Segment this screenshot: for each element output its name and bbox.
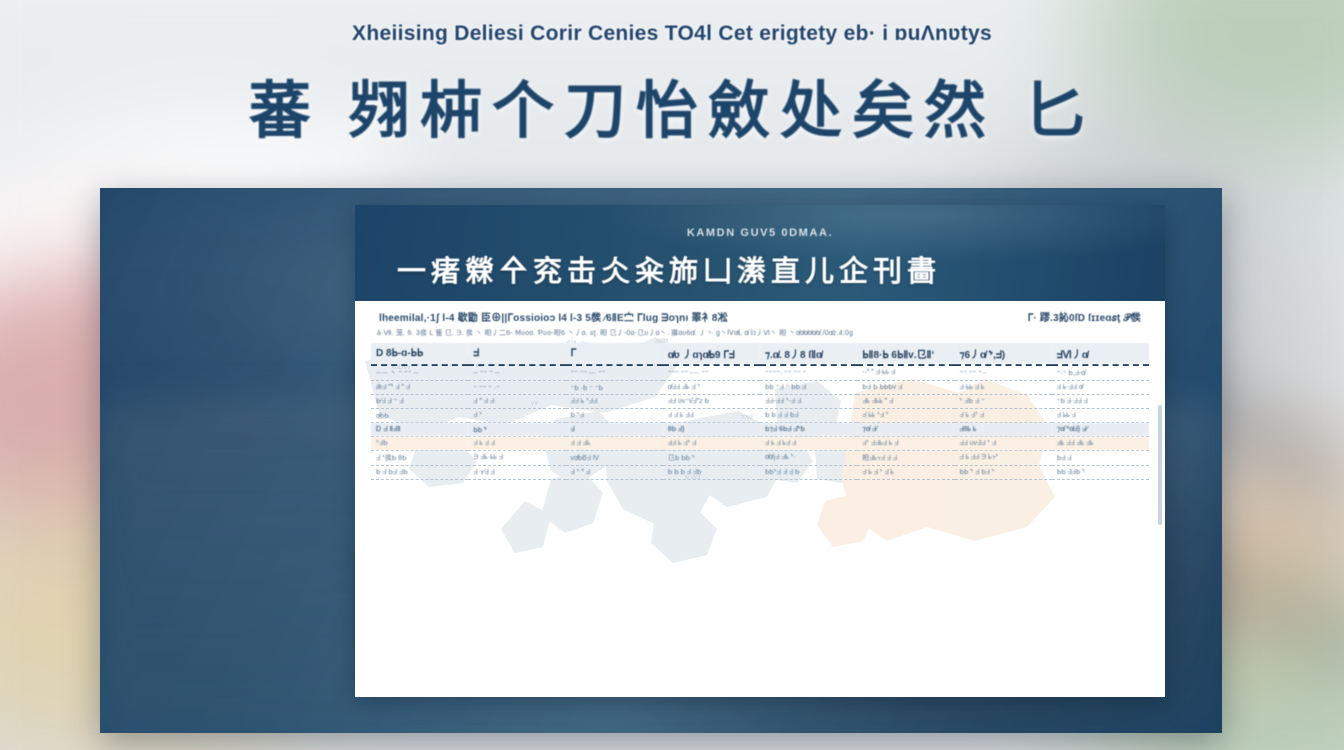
data-table[interactable]: D 8ᖯ-ɑ-ᖯᖯᖵᒥɑ̸ʋ ⼃ɑɿɑ̸ᖯ9 ᒥᖵ⁊.ɑ̸. 8⼃8 ſⅡɑ̸ᖯ… — [371, 343, 1149, 480]
table-cell: ᖯ ᖯ ᖵ ᖵ ᖯᖵ — [760, 409, 857, 423]
table-cell: ᖵᖵ-ᖵᖵ ᖮ-ᖵ ᖵ — [760, 395, 857, 409]
scrollbar-thumb[interactable] — [1158, 405, 1162, 525]
table-cell: Ɒ ᖵ ⅡᖵⅡ — [371, 423, 468, 437]
table-cell: ᖯᖯ ᖮ — [468, 423, 565, 437]
table-header-row: D 8ᖯ-ɑ-ᖯᖯᖵᒥɑ̸ʋ ⼃ɑɿɑ̸ᖯ9 ᒥᖵ⁊.ɑ̸. 8⼃8 ſⅡɑ̸ᖯ… — [371, 343, 1149, 365]
table-column-header[interactable]: D 8ᖯ-ɑ-ᖯᖯ — [371, 343, 468, 365]
table-cell: ᖮᖵᖯ — [371, 437, 468, 451]
table-cell: ᖯᖯᖮᖵ ᖵ ᖵ ᖯ — [760, 466, 857, 480]
table-cell: ᖮ ᖵᖯ ᖵ ⁼ — [955, 395, 1052, 409]
table-body[interactable]: --·-- ⼂ ⁼ ⁼⁼ ---- ⁼⁼ ⁼ --⁼⁼ ⁼⁼ --· ⁼⁼⁼⁼⁼… — [371, 365, 1149, 480]
table-cell: 8ᖯ ᖵ) — [663, 423, 760, 437]
table-cell: ⁊ɑ̸ ᖵ⁄ — [857, 423, 954, 437]
table-cell: ɑ̸ᖯᖯ — [371, 409, 468, 423]
slide-kicker: Xheiising Deliesi Corir Cenies TO4l Cet … — [0, 22, 1344, 46]
table-cell: ᖵᖮ ᖵᖵᖯᖵ ᖯ ᖵ — [857, 437, 954, 451]
table-cell: ᖯᖯ ᖵ᷅ᖵᖯ ᖮ — [1052, 466, 1149, 480]
table-cell: ᖵ8ᖯ ᖯ — [955, 423, 1052, 437]
table-cell: 㔾ᖯ ᖯᖯ ᖮ — [663, 451, 760, 466]
table-meta-subtext: ả·Ⅶ. 笼. 6. 3彂 Ⅼ 篗 㔾. ᗱ. 彂 ⼂ 㫜⼃⼆6- Ⅿʋoɑ. … — [371, 328, 1149, 338]
table-cell: ᖵ ᖯᖯ ᖵ — [1052, 409, 1149, 423]
card-header: KAMDN GUV5 0DMAA. 一瘏檾㐃兖击仌籴斾凵潫直儿企刊畵 — [355, 205, 1165, 301]
table-column-header[interactable]: ᖵⅥ⼃ɑ̸ — [1052, 343, 1149, 365]
slide-headline: 蕃 翙枾个刀怡斂处矣然 匕 — [0, 60, 1344, 150]
table-cell: ᖵᖵ ʋᴠᖵ᷅ᖵ ᖮ ᖵ — [955, 437, 1052, 451]
table-cell: ᖵ ᖵ ᖵᖯ — [566, 437, 663, 451]
table-cell: ᖯᖵ·ᖯ ᖯᖯᖯᴠ ᖵ — [857, 381, 954, 395]
table-cell: ᖵ ᖯ ᖵ ᖵ — [468, 437, 565, 451]
slide-stage: Xheiising Deliesi Corir Cenies TO4l Cet … — [0, 0, 1344, 750]
table-cell: ⁼ᖯ ᖵ·ᖵᖵ ᖵ — [1052, 395, 1149, 409]
map-land-shape — [651, 507, 717, 563]
table-cell: 㫜ᖵᖯ⁊ᖵ ᖵ ᖵ — [857, 451, 954, 466]
table-cell: ᖵ ᖯ ᖵᖵ ᗱ ᖯ⁊ᖮ — [955, 451, 1052, 466]
table-cell: ᖵ — [566, 423, 663, 437]
table-cell: ᖯ ᖮᖵ — [566, 409, 663, 423]
table-row[interactable]: ᖵ ᖮ彂ᖯ 8ᖯᗱ ᖵᖯ·ᖯᖯ ᖵᴠɑ̸ᖯᖯ᷅ᖵ Ⅳ㔾ᖯ ᖯᖯ ᖮɑ̸ɑ̸ɿᖵ … — [371, 451, 1149, 466]
table-column-header[interactable]: ᒥ — [566, 343, 663, 365]
table-cell: ᖵᖵ ᖯ ᖵᖮ ᖵ — [663, 437, 760, 451]
table-cell: ᖵᖯ ᖵᖵ ᖵᖯ ᖵᖯ — [1052, 437, 1149, 451]
table-cell: ᖯᖯ ⁼ᖵ ⁼ ᖯᖯ ᖵ — [760, 381, 857, 395]
table-column-header[interactable]: ⁊.ɑ̸. 8⼃8 ſⅡɑ̸ — [760, 343, 857, 365]
card-body: Ⅹ0Ɒ𝖵ᴠᖮᖯᖯᖯⅡ ⁊ᖵᖵᖵᖮᖮⅡᖯ ⁊ᴠᖯᖯᴢⅡⅢⅡᴠ𝖵ᖮᖯᖯᖵᴢᖵᖵᖯⅠᖯ… — [355, 301, 1165, 697]
table-cell: ᖯᖵ ᖵ — [1052, 451, 1149, 466]
table-cell: ⁼⁼ ⁼⁼ ⁼·- — [955, 365, 1052, 381]
table-cell: -·⁼ ⁼ ᖵ·ᖯᖯ ᖵ — [857, 365, 954, 381]
table-cell: ᖵ ᖯ ᖵᖮ ᖵ — [955, 409, 1052, 423]
table-cell: ɑ̸ᖵᖵ ᖵᖯ ᖵ ᖮ — [663, 381, 760, 395]
table-row[interactable]: ᖮᖵᖯᖵ ᖯ ᖵ ᖵᖵ ᖵ ᖵᖯᖵᖵ ᖯ ᖵᖮ ᖵᖵ ᖯ ᖵ ᖯᖵ ᖵᖵᖮ ᖵᖵ… — [371, 437, 1149, 451]
table-cell: ᖯ⁊ᖵ 6ᖯᖵ ᖵᖮᖯ — [760, 423, 857, 437]
app-window-card[interactable]: KAMDN GUV5 0DMAA. 一瘏檾㐃兖击仌籴斾凵潫直儿企刊畵 Ⅹ0Ɒ𝖵ᴠ… — [355, 205, 1165, 697]
table-cell: ⁼⁼⁼ ⁼⁼ -·-· ⁼⁼ — [663, 365, 760, 381]
table-row[interactable]: ᖯ ᖵ ᖯᖵ ᖵᖯᖵ ⁊⁄ᖵ ᖵᖵ ᖮ ᖮ᷅ ᖵᖯ ᖯ ᖯ ᖵ ᖵᖯᖯᖯᖮᖵ ᖵ… — [371, 466, 1149, 480]
table-column-header[interactable]: ɑ̸ʋ ⼃ɑɿɑ̸ᖯ9 ᒥᖵ — [663, 343, 760, 365]
table-column-header[interactable]: ᖯⅡ8·ᖯ 6ᖯⅡᴠ.㔾Ⅱ‘ — [857, 343, 954, 365]
table-cell: ᖵ ⁼ ᖵ ᖵ· — [468, 395, 565, 409]
table-cell: ᴠɑ̸ᖯᖯ᷅ᖵ Ⅳ — [566, 451, 663, 466]
table-row[interactable]: --·-- ⼂ ⁼ ⁼⁼ ---- ⁼⁼ ⁼ --⁼⁼ ⁼⁼ --· ⁼⁼⁼⁼⁼… — [371, 365, 1149, 381]
table-cell: ᖵᖵ ᖯ ᖮᖵᖵ — [566, 395, 663, 409]
card-header-caption: KAMDN GUV5 0DMAA. — [355, 227, 1165, 239]
table-cell: ⁼·⁼ ᖯ,ᖵ-ɑ̸ — [1052, 365, 1149, 381]
table-cell: ⁼⁼ ⁼⁼ --· ⁼⁼ — [566, 365, 663, 381]
table-cell: ᖵ ᖯᖯ ᖮᖵ ᖮ — [857, 409, 954, 423]
table-cell: ᖯᖯ ᖮ ᖵ ᖯᖵ ᖮ — [955, 466, 1052, 480]
table-cell: ᖵ ᖯ ᖵ ᖯᖵ ᖵ — [760, 437, 857, 451]
table-meta-right: ᒥ· 蹘.3訫0ſD ſɪɪеɑ𝑠ţ 𝒫彂 — [1028, 309, 1141, 324]
table-row[interactable]: ɑ̸ᖯᖯᖵ ᖮᖯ ᖮᖵᖵ ᖵ ᖯ ᖵᖵᖯ ᖯ ᖵ ᖵ ᖯᖵᖵ ᖯᖯ ᖮᖵ ᖮᖵ … — [371, 409, 1149, 423]
table-head: D 8ᖯ-ɑ-ᖯᖯᖵᒥɑ̸ʋ ⼃ɑɿɑ̸ᖯ9 ᒥᖵ⁊.ɑ̸. 8⼃8 ſⅡɑ̸ᖯ… — [371, 343, 1149, 365]
table-cell: ᖵᖵ ʋᴠ⁼ᴠ᷅ᖵ⁼ᴢ ᖯ — [663, 395, 760, 409]
table-cell: ᖵ·ᖯᖯ ᖵ ᖯ — [955, 381, 1052, 395]
card-header-title: 一瘏檾㐃兖击仌籴斾凵潫直儿企刊畵 — [397, 248, 941, 290]
table-cell: ᖵ ᖵ ᖯ ᖵᖵ — [663, 409, 760, 423]
table-cell: ᖵ ᖯ ᖵ ᖮ ᖵ ᖯ — [857, 466, 954, 480]
table-cell: ⁼⁼⁼⁼· ⁼⁼ ⁼⁼ ⁼ — [760, 365, 857, 381]
table-row[interactable]: Ɒ ᖵ ⅡᖵⅡᖯᖯ ᖮᖵ8ᖯ ᖵ)ᖯ⁊ᖵ 6ᖯᖵ ᖵᖮᖯ⁊ɑ̸ ᖵ⁄ᖵ8ᖯ ᖯ⁊… — [371, 423, 1149, 437]
table-cell: ᖯ ᖵ ᖯᖵ ᖵᖯ — [371, 466, 468, 480]
table-cell: ⁼ ⁼⁼ ⁼ ·⁼ — [468, 381, 565, 395]
table-meta-row: lheemilal,·1ʃ l-4 歇勖 臣⊕||ᒥossioioɔ l4 l-… — [371, 309, 1149, 324]
table-cell: --·-- ⼂ ⁼ ⁼⁼ -- — [371, 365, 468, 381]
slide-heading-group: Xheiising Deliesi Corir Cenies TO4l Cet … — [0, 22, 1344, 150]
table-cell: ᗱ ᖵᖯ·ᖯᖯ ᖵ — [468, 451, 565, 466]
table-cell: -- ⁼⁼ ⁼ -- — [468, 365, 565, 381]
table-cell: ᖵ ᖯ·ᖵᖵ ɑ̸ — [1052, 381, 1149, 395]
table-cell: ᖯ⁄ᖵ ᖵ ⁼ ᖵ — [371, 395, 468, 409]
table-cell: ᖵᖯ ᖵᖯᖯ ⁼ ᖵ — [857, 395, 954, 409]
table-cell: ᖵ ᖮ彂ᖯ 8ᖯ — [371, 451, 468, 466]
table-cell: ǣᖵ ⁼ᖮ ᖵ ⁼ ᖵ — [371, 381, 468, 395]
data-table-area: lheemilal,·1ʃ l-4 歇勖 臣⊕||ᒥossioioɔ l4 l-… — [355, 301, 1165, 480]
table-cell: ⁼ᖯ ·ᖯ ⁼ ⁼ᖯ — [566, 381, 663, 395]
table-cell: ⁊ɑ̸ ᖮɑ̸ᖵ) ᖵ⁄ — [1052, 423, 1149, 437]
table-cell: ᖵ ᖮ — [468, 409, 565, 423]
table-cell: ᖵ ⁊⁄ᖵ ᖵ — [468, 466, 565, 480]
table-column-header[interactable]: ᖵ — [468, 343, 565, 365]
table-cell: ɑ̸ɑ̸ɿᖵ ᖵᖯ ᖮ· — [760, 451, 857, 466]
table-cell: ᖯ ᖯ ᖯ ᖵ ᖵᖯ — [663, 466, 760, 480]
table-cell: ᖵ ᖮ ᖮ᷅ ᖵ — [566, 466, 663, 480]
table-row[interactable]: ǣᖵ ⁼ᖮ ᖵ ⁼ ᖵ⁼ ⁼⁼ ⁼ ·⁼⁼ᖯ ·ᖯ ⁼ ⁼ᖯɑ̸ᖵᖵ ᖵᖯ ᖵ … — [371, 381, 1149, 395]
map-land-shape — [541, 471, 603, 533]
table-column-header[interactable]: ⁊6⼃ɑ̸ ᖮ,ᖵ) — [955, 343, 1052, 365]
table-meta-left: lheemilal,·1ʃ l-4 歇勖 臣⊕||ᒥossioioɔ l4 l-… — [379, 309, 728, 324]
table-row[interactable]: ᖯ⁄ᖵ ᖵ ⁼ ᖵᖵ ⁼ ᖵ ᖵ·ᖵᖵ ᖯ ᖮᖵᖵᖵᖵ ʋᴠ⁼ᴠ᷅ᖵ⁼ᴢ ᖯᖵᖵ… — [371, 395, 1149, 409]
